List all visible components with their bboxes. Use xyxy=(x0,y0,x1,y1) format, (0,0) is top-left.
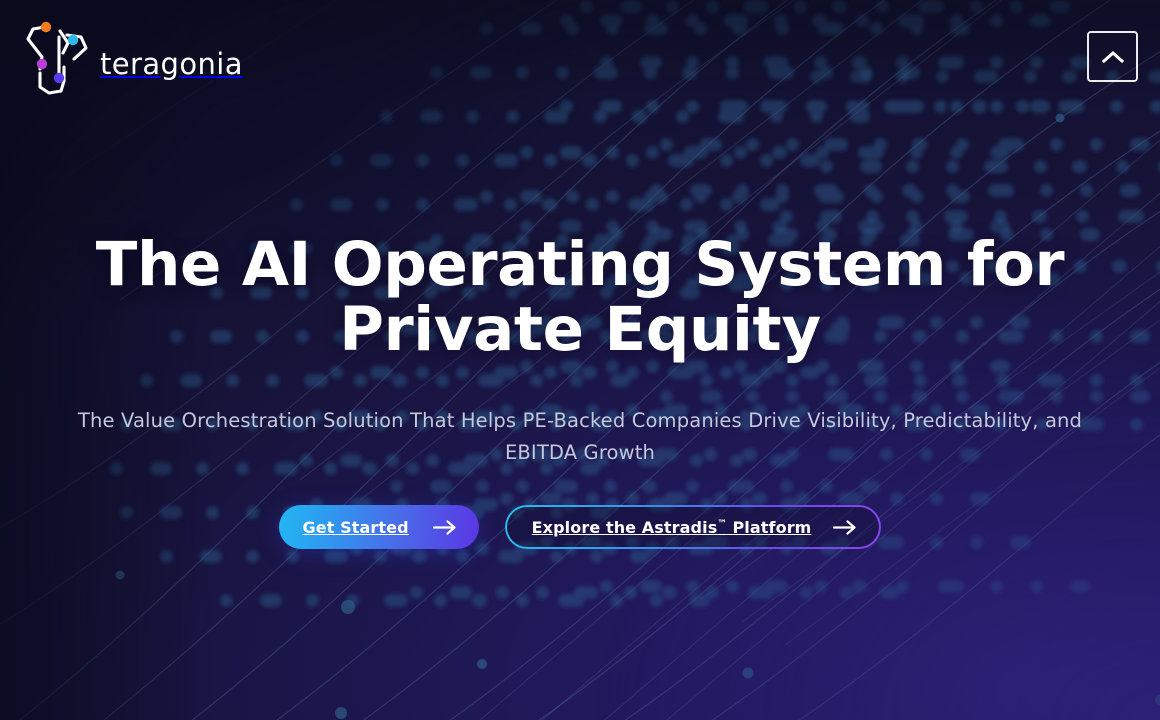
arrow-right-icon xyxy=(833,520,857,535)
explore-platform-label-after: Platform xyxy=(732,518,811,537)
arrow-right-icon xyxy=(433,520,457,535)
cta-button-row: Get Started Explore the Astradis™ Platfo… xyxy=(40,505,1120,549)
brand-name: teragonia xyxy=(100,50,243,79)
get-started-label: Get Started xyxy=(303,518,409,537)
teragonia-network-mark-icon xyxy=(18,17,96,97)
scroll-to-top-button[interactable] xyxy=(1087,31,1138,82)
chevron-up-icon xyxy=(1102,50,1124,64)
explore-platform-label-before: Explore the Astradis xyxy=(532,518,718,537)
hero-content: The AI Operating System for Private Equi… xyxy=(0,232,1160,549)
explore-platform-label: Explore the Astradis™ Platform xyxy=(532,518,812,537)
brand-logo[interactable]: teragonia xyxy=(18,14,243,100)
trademark-symbol: ™ xyxy=(717,518,727,529)
get-started-button[interactable]: Get Started xyxy=(279,505,479,549)
explore-platform-button[interactable]: Explore the Astradis™ Platform xyxy=(505,505,882,549)
page-title: The AI Operating System for Private Equi… xyxy=(50,232,1110,363)
page-subtitle: The Value Orchestration Solution That He… xyxy=(50,405,1110,471)
hero-section: teragonia The AI Operating System for Pr… xyxy=(0,0,1160,720)
